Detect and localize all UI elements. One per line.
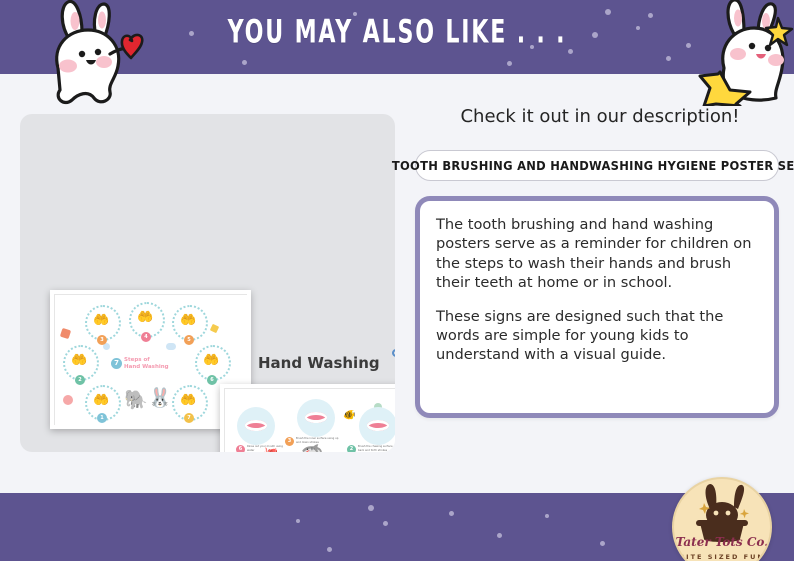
- product-preview-panel[interactable]: 🤲 3 🤲 4 🤲 5 🤲 2 🤲 6 🤲 1: [20, 114, 395, 452]
- shark-illustration: 🦈: [301, 445, 323, 452]
- decorative-dot: [383, 521, 388, 526]
- decorative-dot: [327, 547, 332, 552]
- step-number-badge: 7: [184, 413, 194, 423]
- decorative-dot: [368, 505, 374, 511]
- mouth-illustration: [367, 420, 389, 431]
- brand-tagline: BITE SIZED FUN: [674, 553, 770, 561]
- center-title-line1: Steps of: [124, 357, 150, 363]
- bunny-with-heart-icon: [38, 0, 146, 113]
- decorative-dot: [296, 519, 300, 523]
- hands-glyph: 🤲: [137, 310, 153, 323]
- tooth-brushing-poster[interactable]: 🐙 🐠 ⚓ ♪ ♪ 6 Rinse out your mouth using w…: [220, 384, 395, 452]
- decorative-confetti: [166, 343, 176, 350]
- hands-glyph: 🤲: [203, 353, 219, 366]
- product-title: TOOTH BRUSHING AND HANDWASHING HYGIENE P…: [392, 158, 794, 173]
- step-caption: Brush the chewing surface using back and…: [358, 445, 395, 452]
- step-number-badge: 4: [141, 332, 151, 342]
- step-number-badge: 6: [207, 375, 217, 385]
- description-card: The tooth brushing and hand washing post…: [415, 196, 779, 418]
- step-number-badge: 3: [97, 335, 107, 345]
- center-title-line2: Hand Washing: [124, 364, 169, 370]
- rabbit-illustration: 🐰: [148, 389, 172, 408]
- decorative-dot: [242, 60, 247, 65]
- hands-glyph: 🤲: [180, 393, 196, 406]
- step-number-badge: 5: [184, 335, 194, 345]
- mouth-illustration: [305, 412, 327, 423]
- hands-glyph: 🤲: [93, 313, 109, 326]
- elephant-illustration: 🐘: [124, 391, 148, 410]
- decorative-confetti: [60, 328, 71, 339]
- tooth-brushing-label-group: Tooth Brushing: [69, 450, 257, 452]
- decorative-dot: [666, 56, 671, 61]
- step-number-badge: 2: [75, 375, 85, 385]
- center-step-count: 7: [111, 358, 122, 369]
- description-paragraph-2: These signs are designed such that the w…: [436, 307, 758, 365]
- tooth-plus-icon: [69, 450, 121, 452]
- bunny-with-star-icon: [690, 0, 794, 111]
- page-title: YOU MAY ALSO LIKE . . .: [71, 14, 722, 51]
- brand-name: Tater Tots Co.: [674, 535, 770, 549]
- hands-glyph: 🤲: [180, 313, 196, 326]
- decorative-dot: [600, 541, 605, 546]
- hand-washing-label: Hand Washing: [258, 354, 380, 372]
- decorative-dot: [507, 61, 512, 66]
- step-caption: Brush the inner surface using up and dow…: [296, 437, 340, 444]
- hands-glyph: 🤲: [71, 353, 87, 366]
- hands-glyph: 🤲: [93, 393, 109, 406]
- washing-hands-icon: [388, 336, 395, 389]
- product-title-pill[interactable]: TOOTH BRUSHING AND HANDWASHING HYGIENE P…: [415, 150, 779, 181]
- brand-logo-badge[interactable]: Tater Tots Co. BITE SIZED FUN: [672, 477, 772, 561]
- fish-illustration: 🐠: [343, 411, 355, 421]
- poster-center-label: 7Steps ofHand Washing: [111, 357, 169, 371]
- step-number-badge: 2: [347, 445, 356, 452]
- decorative-dot: [449, 511, 454, 516]
- hand-washing-label-group: Hand Washing: [258, 336, 395, 389]
- decorative-confetti: [210, 324, 219, 333]
- decorative-confetti: [63, 395, 73, 405]
- tooth-brushing-poster-art: 🐙 🐠 ⚓ ♪ ♪ 6 Rinse out your mouth using w…: [224, 388, 395, 452]
- decorative-dot: [545, 514, 549, 518]
- mouth-illustration: [245, 420, 267, 431]
- description-paragraph-1: The tooth brushing and hand washing post…: [436, 215, 758, 293]
- decorative-dot: [497, 533, 502, 538]
- step-number-badge: 1: [97, 413, 107, 423]
- step-number-badge: 3: [285, 437, 294, 446]
- check-description-text: Check it out in our description!: [415, 106, 785, 127]
- poster-listing-page: YOU MAY ALSO LIKE . . .: [0, 0, 794, 561]
